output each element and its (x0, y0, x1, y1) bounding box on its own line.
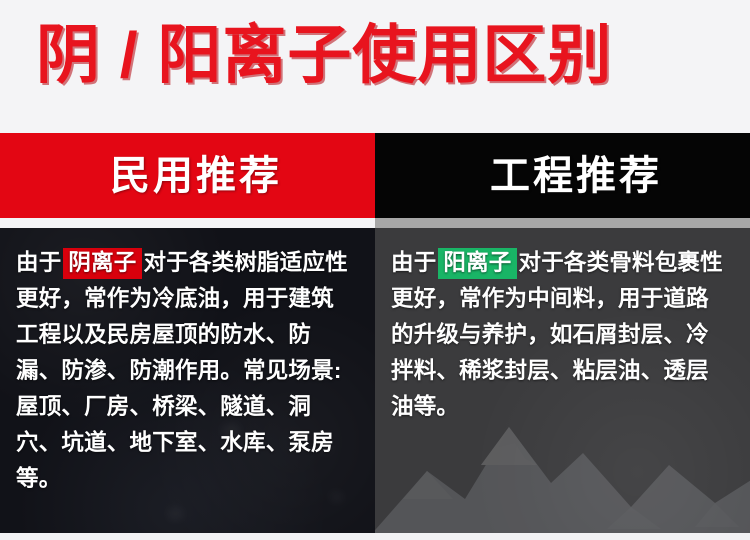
bar-shadow-strips (0, 218, 750, 228)
title-area: 阴 / 阳离子使用区别 (0, 0, 750, 132)
bottom-strip (0, 533, 750, 540)
header-label-engineering: 工程推荐 (490, 156, 662, 196)
header-bar-engineering: 工程推荐 (375, 133, 750, 218)
glow-blob-icon (168, 508, 183, 520)
header-bar-civil: 民用推荐 (0, 133, 375, 218)
poster-root: 阴 / 阳离子使用区别 民用推荐 工程推荐 由于阴离子对于各类树脂适应性更好，常… (0, 0, 750, 540)
text-prefix-engineering: 由于 (391, 250, 436, 275)
panel-engineering: 由于阳离子对于各类骨料包裹性更好，常作为中间料，用于道路的升级与养护，如石屑封层… (375, 228, 750, 533)
panel-engineering-text: 由于阳离子对于各类骨料包裹性更好，常作为中间料，用于道路的升级与养护，如石屑封层… (391, 245, 730, 425)
strip-engineering (375, 218, 750, 228)
panel-civil: 由于阴离子对于各类树脂适应性更好，常作为冷底油，用于建筑工程以及民房屋顶的防水、… (0, 228, 375, 533)
strip-civil (0, 218, 375, 228)
highlight-term-anion: 阴离子 (63, 248, 141, 279)
header-label-civil: 民用推荐 (110, 156, 282, 196)
page-title: 阴 / 阳离子使用区别 (36, 16, 612, 94)
header-bars: 民用推荐 工程推荐 (0, 133, 750, 218)
content-panels: 由于阴离子对于各类树脂适应性更好，常作为冷底油，用于建筑工程以及民房屋顶的防水、… (0, 228, 750, 533)
highlight-term-cation: 阳离子 (438, 248, 516, 279)
text-prefix-civil: 由于 (16, 250, 61, 275)
panel-civil-text: 由于阴离子对于各类树脂适应性更好，常作为冷底油，用于建筑工程以及民房屋顶的防水、… (16, 245, 355, 497)
